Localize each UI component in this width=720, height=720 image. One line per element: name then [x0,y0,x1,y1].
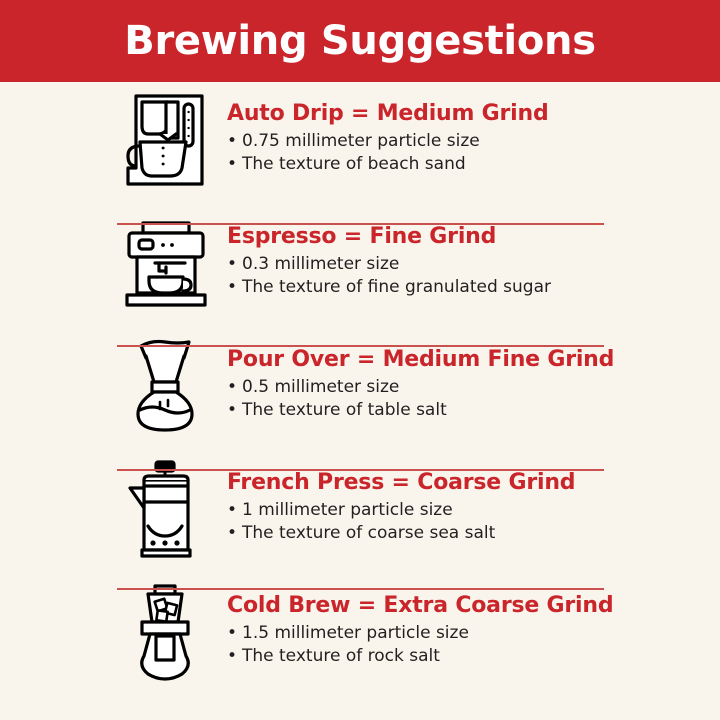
auto-drip-coffee-maker-icon [115,82,215,192]
list-item-bullet: The texture of rock salt [227,645,720,668]
list-item-bullet: The texture of coarse sea salt [227,522,720,545]
bullet-list: 1.5 millimeter particle size The texture… [227,622,720,669]
section-heading: Auto Drip = Medium Grind [227,102,720,127]
list-item-bullet: 0.3 millimeter size [227,253,720,276]
section-heading: Cold Brew = Extra Coarse Grind [227,594,720,619]
list-item-bullet: The texture of beach sand [227,153,720,176]
french-press-icon [115,451,215,561]
section-divider [117,588,604,590]
header-band: Brewing Suggestions [0,0,720,82]
list-item: Auto Drip = Medium Grind 0.75 millimeter… [0,82,720,205]
section-heading: Pour Over = Medium Fine Grind [227,348,720,373]
bullet-list: 0.5 millimeter size The texture of table… [227,376,720,423]
bullet-list: 1 millimeter particle size The texture o… [227,499,720,546]
list-item-bullet: 1 millimeter particle size [227,499,720,522]
page-title: Brewing Suggestions [124,21,595,61]
espresso-machine-icon [115,205,215,315]
list-item-bullet: The texture of fine granulated sugar [227,276,720,299]
section-heading: Espresso = Fine Grind [227,225,720,250]
list-item: Cold Brew = Extra Coarse Grind 1.5 milli… [0,574,720,697]
list-item-bullet: 1.5 millimeter particle size [227,622,720,645]
bullet-list: 0.3 millimeter size The texture of fine … [227,253,720,300]
brewing-suggestions-infographic: Brewing Suggestions Auto Drip = Medi [0,0,720,720]
section-divider [117,469,604,471]
cold-brew-tower-icon [115,574,215,684]
section-divider [117,223,604,225]
list-item-bullet: The texture of table salt [227,399,720,422]
row-text: Espresso = Fine Grind 0.3 millimeter siz… [215,205,720,300]
list-item-bullet: 0.5 millimeter size [227,376,720,399]
list-item-bullet: 0.75 millimeter particle size [227,130,720,153]
bullet-list: 0.75 millimeter particle size The textur… [227,130,720,177]
section-heading: French Press = Coarse Grind [227,471,720,496]
row-text: Pour Over = Medium Fine Grind 0.5 millim… [215,328,720,423]
row-text: French Press = Coarse Grind 1 millimeter… [215,451,720,546]
section-divider [117,345,604,347]
suggestion-list: Auto Drip = Medium Grind 0.75 millimeter… [0,82,720,697]
row-text: Auto Drip = Medium Grind 0.75 millimeter… [215,82,720,177]
